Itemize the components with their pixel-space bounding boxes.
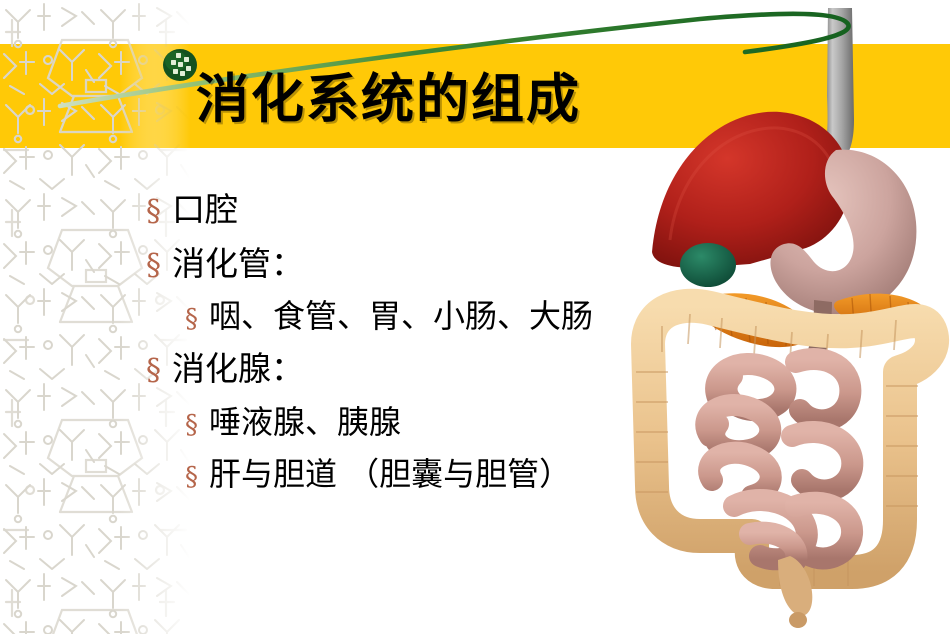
list-item-label: 消化腺：	[172, 345, 304, 393]
page-title: 消化系统的组成	[196, 72, 581, 128]
list-item: § 口腔	[0, 186, 640, 234]
section-bullet-icon: §	[146, 356, 172, 386]
section-bullet-icon: §	[185, 306, 209, 332]
liver-part	[652, 112, 850, 268]
list-item: § 消化腺：	[0, 345, 640, 393]
list-item: § 肝与胆道 （胆囊与胆管）	[0, 451, 640, 497]
list-item-label: 口腔	[172, 186, 238, 234]
gallbladder-part	[680, 243, 736, 287]
bullet-list: § 口腔 § 消化管： § 咽、食管、胃、小肠、大肠 § 消化腺： § 唾液腺、…	[0, 186, 640, 503]
list-item-label: 消化管：	[172, 240, 304, 288]
list-item-label: 咽、食管、胃、小肠、大肠	[209, 293, 593, 339]
list-item-label: 肝与胆道 （胆囊与胆管）	[209, 451, 571, 497]
slide-canvas: 消化系统的组成	[0, 0, 950, 634]
green-dot-ornament-icon	[162, 48, 198, 82]
list-item-label: 唾液腺、胰腺	[209, 399, 401, 445]
list-item: § 消化管：	[0, 240, 640, 288]
section-bullet-icon: §	[185, 464, 209, 490]
list-item: § 咽、食管、胃、小肠、大肠	[0, 293, 640, 339]
section-bullet-icon: §	[146, 197, 172, 227]
section-bullet-icon: §	[185, 412, 209, 438]
digestive-system-illustration	[600, 0, 950, 634]
section-bullet-icon: §	[146, 251, 172, 281]
list-item: § 唾液腺、胰腺	[0, 399, 640, 445]
